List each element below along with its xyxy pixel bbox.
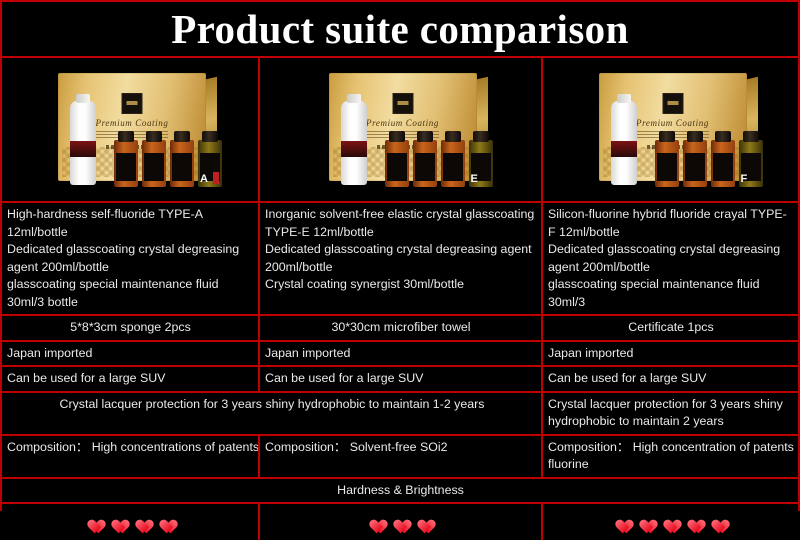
cell-composition-1: Composition： High concentrations of pate… (2, 436, 260, 477)
cell-contents-2: Inorganic solvent-free elastic crystal g… (260, 203, 543, 314)
accessories-text-1: 5*8*3cm sponge 2pcs (7, 319, 254, 337)
durability-text-merged: Crystal lacquer protection for 3 years s… (7, 396, 537, 414)
small-bottle-icon (413, 140, 437, 187)
row-durability: Crystal lacquer protection for 3 years s… (2, 393, 798, 436)
white-bottle-icon (70, 101, 96, 185)
type-bottle-icon: F (739, 140, 763, 187)
composition-text-2: Composition： Solvent-free SOi2 (265, 439, 537, 457)
row-rating-hearts (2, 504, 798, 540)
coverage-text-1: Can be used for a large SUV (7, 370, 254, 388)
cell-contents-3: Silicon-fluorine hybrid fluoride crayal … (543, 203, 798, 314)
rating-hearts-1 (2, 514, 254, 530)
small-bottle-icon (142, 140, 166, 187)
accessories-text-2: 30*30cm microfiber towel (265, 319, 537, 337)
heart-icon (660, 514, 677, 530)
cell-hearts-3 (543, 504, 798, 540)
contents-text-1: High-hardness self-fluoride TYPE-A 12ml/… (7, 206, 254, 311)
row-composition: Composition： High concentrations of pate… (2, 436, 798, 479)
origin-text-2: Japan imported (265, 345, 537, 363)
heart-icon (156, 514, 173, 530)
type-bottle-icon: A (198, 140, 222, 187)
heart-icon (132, 514, 149, 530)
small-bottle-icon (441, 140, 465, 187)
cell-origin-1: Japan imported (2, 342, 260, 366)
rating-hearts-2 (260, 514, 537, 530)
cell-durability-3: Crystal lacquer protection for 3 years s… (543, 393, 798, 434)
contents-text-2: Inorganic solvent-free elastic crystal g… (265, 206, 537, 294)
composition-text-3: Composition： High concentration of paten… (548, 439, 794, 474)
product-image-row: Premium Coating A (2, 58, 798, 203)
page-title: Product suite comparison (171, 9, 629, 50)
small-bottle-icon (655, 140, 679, 187)
product-image-cell-3: Premium Coating F (543, 58, 798, 201)
cell-origin-2: Japan imported (260, 342, 543, 366)
row-coverage: Can be used for a large SUV Can be used … (2, 367, 798, 393)
cell-accessories-1: 5*8*3cm sponge 2pcs (2, 316, 260, 340)
brand-logo-icon (392, 93, 413, 114)
row-contents: High-hardness self-fluoride TYPE-A 12ml/… (2, 203, 798, 316)
type-bottle-letter: E (471, 174, 478, 185)
heart-icon (414, 514, 431, 530)
small-bottle-icon (114, 140, 138, 187)
coverage-text-3: Can be used for a large SUV (548, 370, 794, 388)
heart-icon (390, 514, 407, 530)
cell-durability-merged: Crystal lacquer protection for 3 years s… (2, 393, 543, 434)
cell-accessories-2: 30*30cm microfiber towel (260, 316, 543, 340)
heart-icon (636, 514, 653, 530)
small-bottle-icon (683, 140, 707, 187)
cell-contents-1: High-hardness self-fluoride TYPE-A 12ml/… (2, 203, 260, 314)
heart-icon (84, 514, 101, 530)
brand-logo-icon (662, 93, 683, 114)
heart-icon (684, 514, 701, 530)
cell-hearts-2 (260, 504, 543, 540)
cell-coverage-2: Can be used for a large SUV (260, 367, 543, 391)
origin-text-3: Japan imported (548, 345, 794, 363)
type-bottle-mark (213, 172, 219, 184)
comparison-table: Product suite comparison Premium Coating (0, 0, 800, 511)
type-bottle-letter: A (200, 174, 208, 185)
cell-rating-label: Hardness & Brightness (2, 479, 798, 503)
heart-icon (612, 514, 629, 530)
rating-label-text: Hardness & Brightness (7, 482, 794, 500)
contents-text-3: Silicon-fluorine hybrid fluoride crayal … (548, 206, 794, 311)
product-photo-type-f: Premium Coating F (543, 58, 798, 201)
cell-coverage-1: Can be used for a large SUV (2, 367, 260, 391)
cell-coverage-3: Can be used for a large SUV (543, 367, 798, 391)
product-image-cell-2: Premium Coating E (260, 58, 543, 201)
row-origin: Japan imported Japan imported Japan impo… (2, 342, 798, 368)
product-photo-type-a: Premium Coating A (2, 58, 258, 201)
cell-origin-3: Japan imported (543, 342, 798, 366)
rating-hearts-3 (543, 514, 794, 530)
composition-text-1: Composition： High concentrations of pate… (7, 439, 254, 457)
cell-composition-2: Composition： Solvent-free SOi2 (260, 436, 543, 477)
small-bottle-icon (385, 140, 409, 187)
brand-logo-icon (122, 93, 143, 114)
coverage-text-2: Can be used for a large SUV (265, 370, 537, 388)
page-title-row: Product suite comparison (2, 0, 798, 58)
cell-accessories-3: Certificate 1pcs (543, 316, 798, 340)
cell-composition-3: Composition： High concentration of paten… (543, 436, 798, 477)
white-bottle-icon (341, 101, 367, 185)
origin-text-1: Japan imported (7, 345, 254, 363)
type-bottle-icon: E (469, 140, 493, 187)
type-bottle-letter: F (741, 174, 748, 185)
heart-icon (708, 514, 725, 530)
row-rating-label: Hardness & Brightness (2, 479, 798, 505)
cell-hearts-1 (2, 504, 260, 540)
durability-text-3: Crystal lacquer protection for 3 years s… (548, 396, 794, 431)
heart-icon (108, 514, 125, 530)
product-photo-type-e: Premium Coating E (260, 58, 541, 201)
heart-icon (366, 514, 383, 530)
small-bottle-icon (170, 140, 194, 187)
accessories-text-3: Certificate 1pcs (548, 319, 794, 337)
small-bottle-icon (711, 140, 735, 187)
product-image-cell-1: Premium Coating A (2, 58, 260, 201)
white-bottle-icon (611, 101, 637, 185)
row-accessories: 5*8*3cm sponge 2pcs 30*30cm microfiber t… (2, 316, 798, 342)
